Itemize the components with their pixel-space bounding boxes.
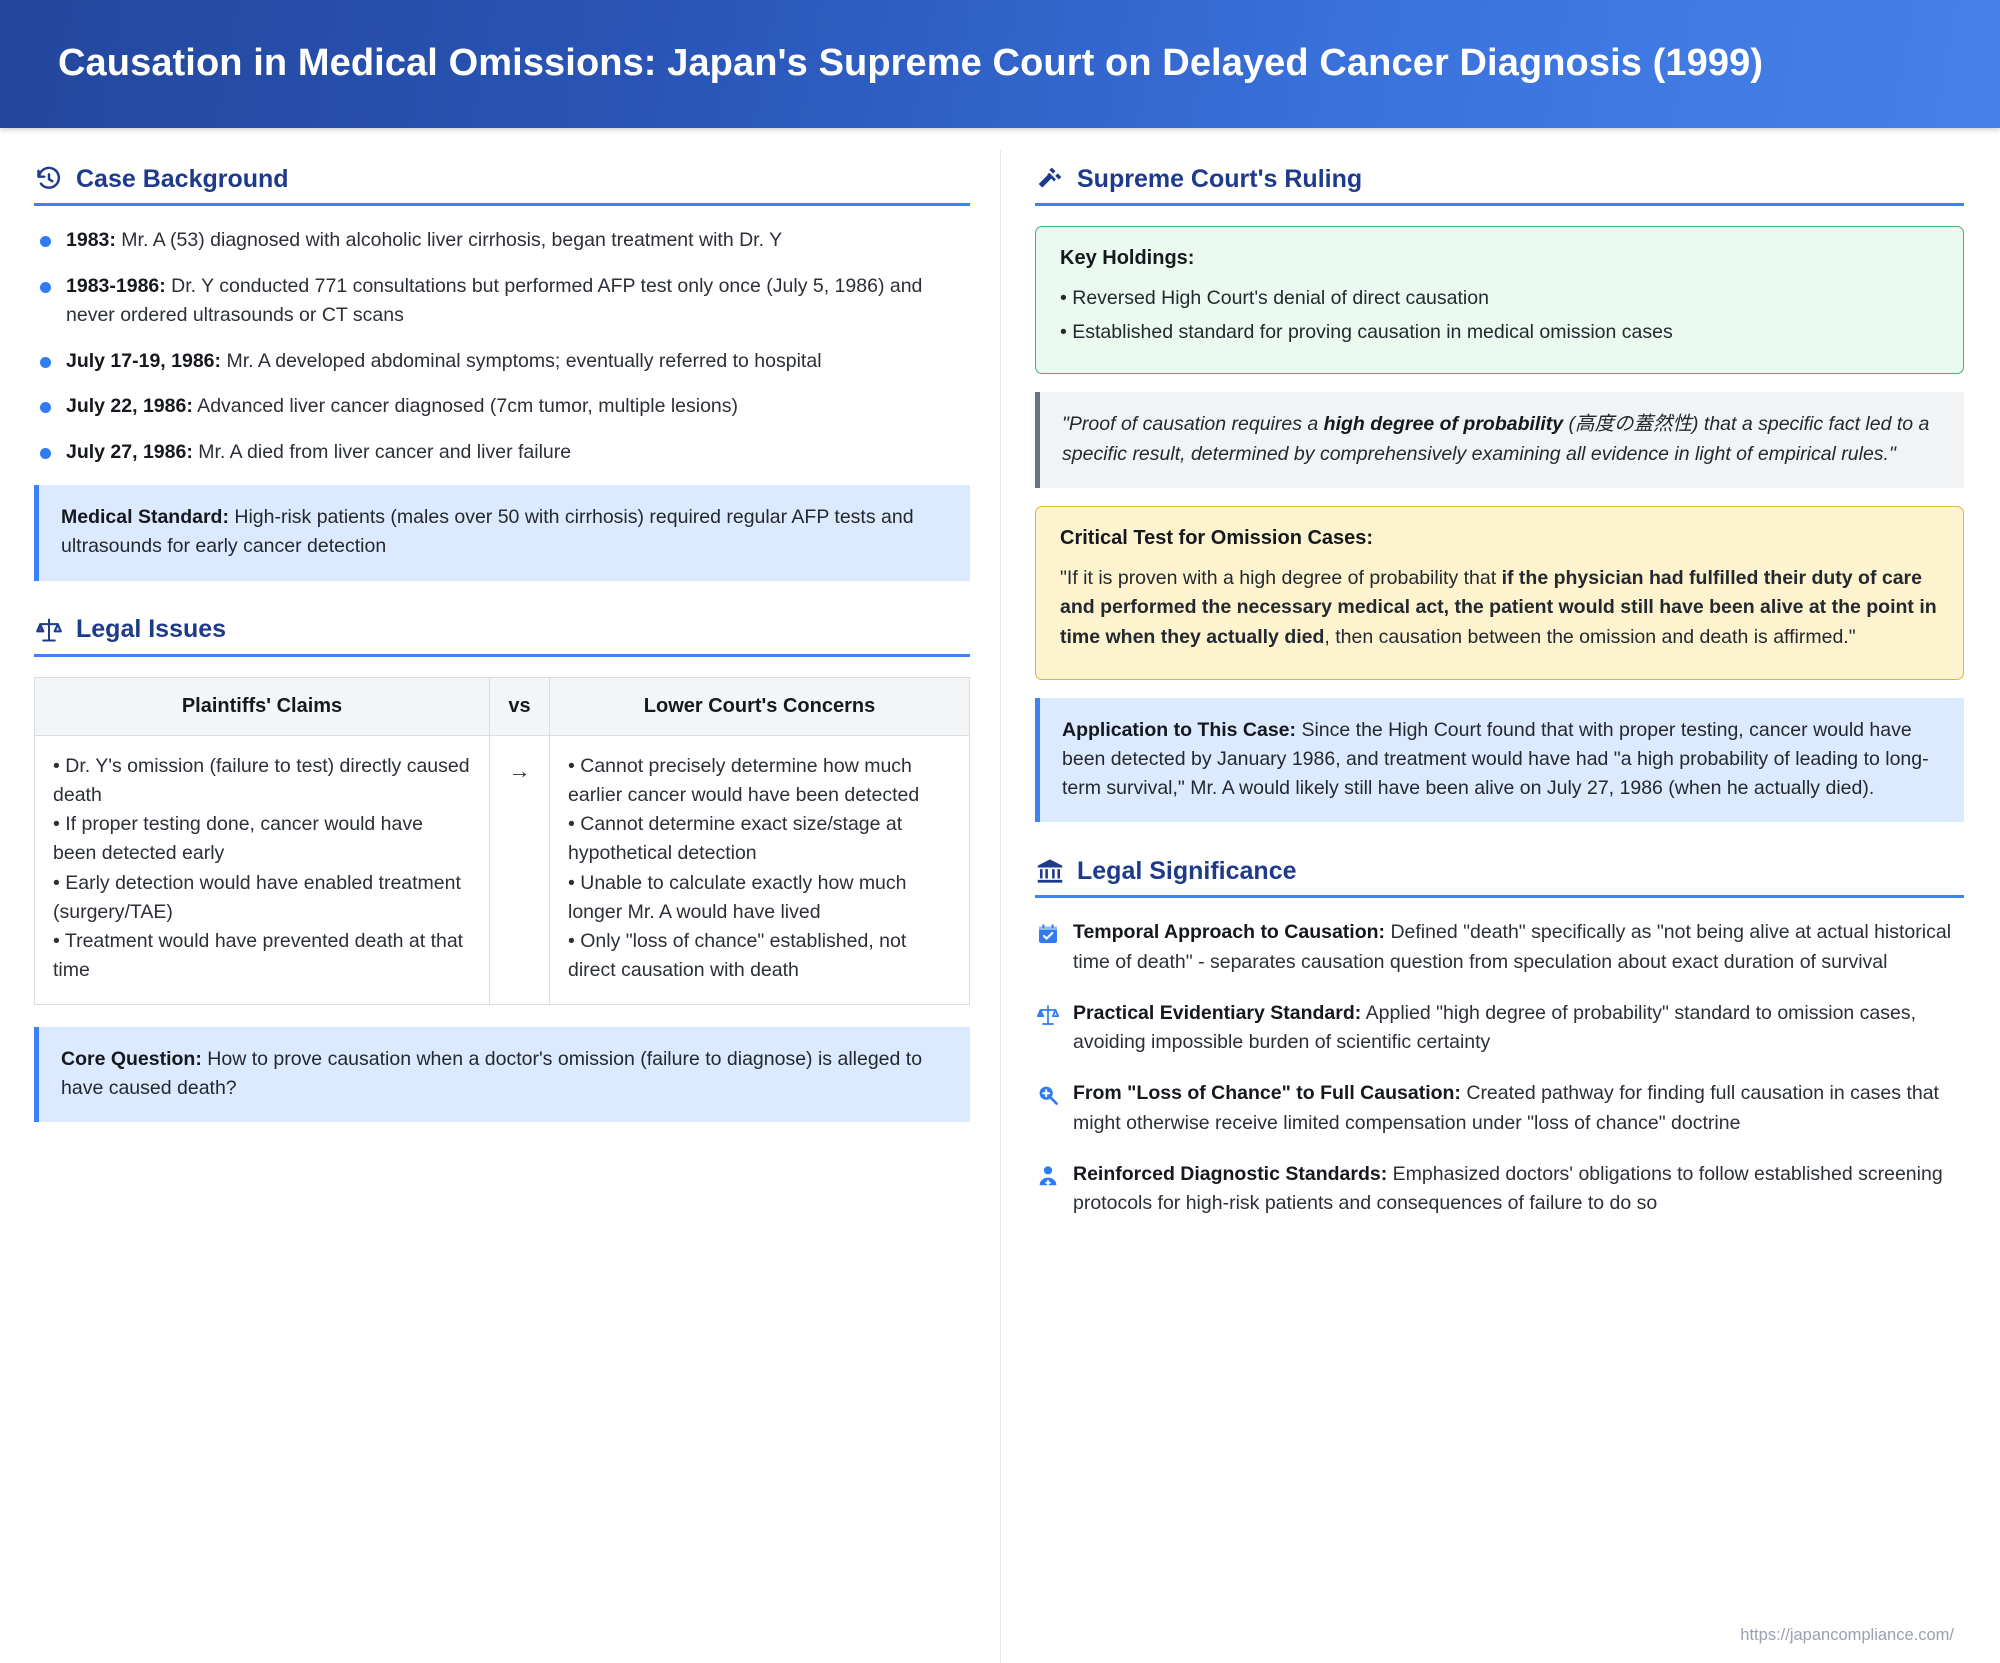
page-title: Causation in Medical Omissions: Japan's …	[58, 42, 1763, 86]
section-title: Supreme Court's Ruling	[1077, 165, 1362, 194]
calendar-check-icon	[1035, 921, 1061, 947]
item-body: Temporal Approach to Causation: Defined …	[1073, 918, 1964, 977]
zoom-in-icon	[1035, 1082, 1061, 1108]
item-label: Practical Evidentiary Standard:	[1073, 1002, 1361, 1024]
item-text: Dr. Y conducted 771 consultations but pe…	[66, 275, 922, 326]
callout-label: Core Question:	[61, 1048, 202, 1070]
holding-line: • Established standard for proving causa…	[1060, 318, 1939, 348]
infographic-page: Causation in Medical Omissions: Japan's …	[0, 0, 2000, 1663]
section-divider	[1035, 203, 1964, 206]
item-label: Temporal Approach to Causation:	[1073, 921, 1385, 943]
item-body: Reinforced Diagnostic Standards: Emphasi…	[1073, 1160, 1964, 1219]
item-label: Reinforced Diagnostic Standards:	[1073, 1163, 1387, 1185]
claim-line: • Early detection would have enabled tre…	[53, 869, 471, 928]
section-divider	[34, 203, 970, 206]
quote-bold-1: high degree of probability	[1324, 413, 1563, 435]
list-item: From "Loss of Chance" to Full Causation:…	[1035, 1079, 1964, 1138]
concern-line: • Only "loss of chance" established, not…	[568, 927, 951, 986]
item-label: July 17-19, 1986:	[66, 350, 221, 372]
section-header-legal-issues: Legal Issues	[34, 615, 970, 654]
item-label: July 22, 1986:	[66, 395, 193, 417]
section-header-significance: Legal Significance	[1035, 856, 1964, 895]
item-text: Mr. A developed abdominal symptoms; even…	[221, 350, 822, 372]
footer-url: https://japancompliance.com/	[1740, 1626, 1954, 1645]
claim-line: • Treatment would have prevented death a…	[53, 927, 471, 986]
test-part-1: "If it is proven with a high degree of p…	[1060, 567, 1502, 589]
section-header-case-background: Case Background	[34, 164, 970, 203]
item-text: Mr. A (53) diagnosed with alcoholic live…	[116, 229, 782, 251]
list-item: July 27, 1986: Mr. A died from liver can…	[34, 438, 970, 467]
key-holdings-box: Key Holdings: • Reversed High Court's de…	[1035, 226, 1964, 374]
arrow-cell: →	[490, 735, 550, 1004]
section-divider	[1035, 895, 1964, 898]
box-title: Key Holdings:	[1060, 247, 1939, 270]
legal-significance-list: Temporal Approach to Causation: Defined …	[1035, 918, 1964, 1218]
core-question-callout: Core Question: How to prove causation wh…	[34, 1027, 970, 1123]
item-body: Practical Evidentiary Standard: Applied …	[1073, 999, 1964, 1058]
concern-line: • Unable to calculate exactly how much l…	[568, 869, 951, 928]
critical-test-text: "If it is proven with a high degree of p…	[1060, 564, 1939, 653]
concern-line: • Cannot determine exact size/stage at h…	[568, 810, 951, 869]
medical-standard-callout: Medical Standard: High-risk patients (ma…	[34, 485, 970, 581]
table-header-row: Plaintiffs' Claims vs Lower Court's Conc…	[35, 677, 970, 735]
doctor-icon	[1035, 1163, 1061, 1189]
cell-plaintiffs-claims: • Dr. Y's omission (failure to test) dir…	[35, 735, 490, 1004]
item-body: From "Loss of Chance" to Full Causation:…	[1073, 1079, 1964, 1138]
balance-scale-icon	[34, 615, 64, 645]
concern-line: • Cannot precisely determine how much ea…	[568, 752, 951, 811]
item-label: July 27, 1986:	[66, 441, 193, 463]
table-row: • Dr. Y's omission (failure to test) dir…	[35, 735, 970, 1004]
bank-icon	[1035, 856, 1065, 886]
legal-issues-table: Plaintiffs' Claims vs Lower Court's Conc…	[34, 677, 970, 1005]
list-item: 1983: Mr. A (53) diagnosed with alcoholi…	[34, 226, 970, 255]
application-callout: Application to This Case: Since the High…	[1035, 698, 1964, 823]
item-label: 1983-1986:	[66, 275, 166, 297]
page-header: Causation in Medical Omissions: Japan's …	[0, 0, 2000, 128]
holding-line: • Reversed High Court's denial of direct…	[1060, 284, 1939, 314]
item-text: Mr. A died from liver cancer and liver f…	[193, 441, 571, 463]
item-label: 1983:	[66, 229, 116, 251]
quote-part-1: "Proof of causation requires a	[1062, 413, 1324, 435]
right-column: Supreme Court's Ruling Key Holdings: • R…	[1000, 150, 2000, 1663]
section-header-ruling: Supreme Court's Ruling	[1035, 164, 1964, 203]
item-label: From "Loss of Chance" to Full Causation:	[1073, 1082, 1461, 1104]
callout-label: Medical Standard:	[61, 506, 229, 528]
case-background-list: 1983: Mr. A (53) diagnosed with alcoholi…	[34, 226, 970, 467]
history-icon	[34, 164, 64, 194]
section-title: Legal Issues	[76, 615, 226, 644]
column-header-plaintiffs-claims: Plaintiffs' Claims	[35, 677, 490, 735]
callout-label: Application to This Case:	[1062, 719, 1296, 741]
list-item: Reinforced Diagnostic Standards: Emphasi…	[1035, 1160, 1964, 1219]
claim-line: • Dr. Y's omission (failure to test) dir…	[53, 752, 471, 811]
item-text: Advanced liver cancer diagnosed (7cm tum…	[193, 395, 738, 417]
cell-lower-court-concerns: • Cannot precisely determine how much ea…	[550, 735, 970, 1004]
column-header-vs: vs	[490, 677, 550, 735]
critical-test-box: Critical Test for Omission Cases: "If it…	[1035, 506, 1964, 680]
list-item: July 17-19, 1986: Mr. A developed abdomi…	[34, 347, 970, 376]
balance-scale-icon	[1035, 1002, 1061, 1028]
list-item: 1983-1986: Dr. Y conducted 771 consultat…	[34, 272, 970, 330]
column-header-lower-court-concerns: Lower Court's Concerns	[550, 677, 970, 735]
list-item: Temporal Approach to Causation: Defined …	[1035, 918, 1964, 977]
claim-line: • If proper testing done, cancer would h…	[53, 810, 471, 869]
content-columns: Case Background 1983: Mr. A (53) diagnos…	[0, 128, 2000, 1663]
section-divider	[34, 654, 970, 657]
box-title: Critical Test for Omission Cases:	[1060, 527, 1939, 550]
gavel-icon	[1035, 164, 1065, 194]
list-item: Practical Evidentiary Standard: Applied …	[1035, 999, 1964, 1058]
causation-quote-box: "Proof of causation requires a high degr…	[1035, 392, 1964, 488]
list-item: July 22, 1986: Advanced liver cancer dia…	[34, 392, 970, 421]
test-part-2: , then causation between the omission an…	[1324, 626, 1855, 648]
section-title: Legal Significance	[1077, 857, 1297, 886]
section-title: Case Background	[76, 165, 289, 194]
left-column: Case Background 1983: Mr. A (53) diagnos…	[0, 150, 1000, 1663]
